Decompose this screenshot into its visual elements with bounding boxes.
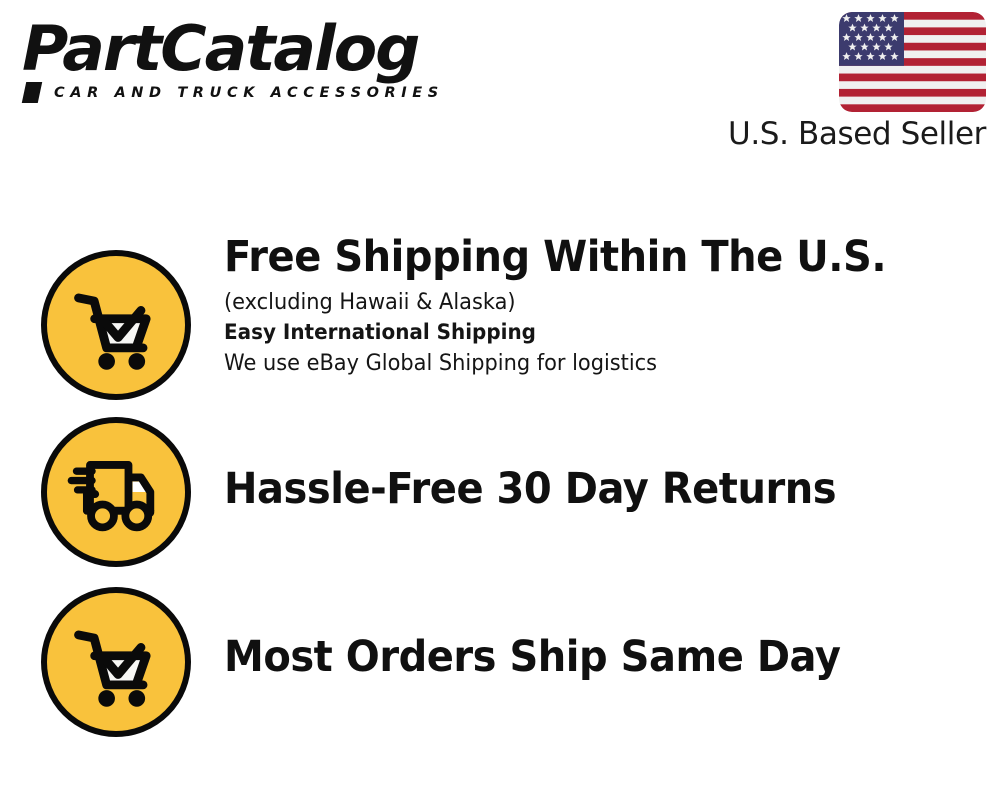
feature-text: Most Orders Ship Same Day	[224, 633, 984, 681]
feature-row-returns: Hassle-Free 30 Day Returns	[0, 397, 1000, 569]
seller-badge-label: U.S. Based Seller	[716, 117, 986, 151]
feature-sub-international-detail: We use eBay Global Shipping for logistic…	[224, 348, 946, 379]
feature-text: Free Shipping Within The U.S. (excluding…	[224, 233, 984, 379]
brand-tagline-row: CAR AND TRUCK ACCESSORIES	[22, 82, 492, 103]
brand-slash-mark-icon	[22, 82, 42, 103]
feature-sub-exclusions: (excluding Hawaii & Alaska)	[224, 287, 946, 318]
seller-badge: U.S. Based Seller	[716, 12, 986, 151]
page-header: PartCatalog CAR AND TRUCK ACCESSORIES	[0, 0, 1000, 170]
feature-icon-badge	[41, 587, 191, 737]
feature-icon-badge	[41, 250, 191, 400]
feature-text: Hassle-Free 30 Day Returns	[224, 465, 984, 513]
brand-tagline: CAR AND TRUCK ACCESSORIES	[54, 85, 444, 101]
shopping-cart-check-icon	[64, 273, 168, 377]
feature-headline: Free Shipping Within The U.S.	[224, 233, 931, 281]
feature-row-same-day-ship: Most Orders Ship Same Day	[0, 569, 1000, 741]
us-flag-icon	[839, 12, 986, 112]
brand-logo[interactable]: PartCatalog CAR AND TRUCK ACCESSORIES	[22, 18, 492, 103]
brand-wordmark: PartCatalog	[22, 18, 501, 80]
feature-icon-badge	[41, 417, 191, 567]
feature-sub-international-heading: Easy International Shipping	[224, 318, 946, 348]
feature-list: Free Shipping Within The U.S. (excluding…	[0, 225, 1000, 741]
shopping-cart-check-icon	[64, 610, 168, 714]
delivery-truck-icon	[64, 440, 168, 544]
feature-headline: Hassle-Free 30 Day Returns	[224, 465, 931, 513]
feature-headline: Most Orders Ship Same Day	[224, 633, 931, 681]
feature-row-free-shipping: Free Shipping Within The U.S. (excluding…	[0, 225, 1000, 397]
